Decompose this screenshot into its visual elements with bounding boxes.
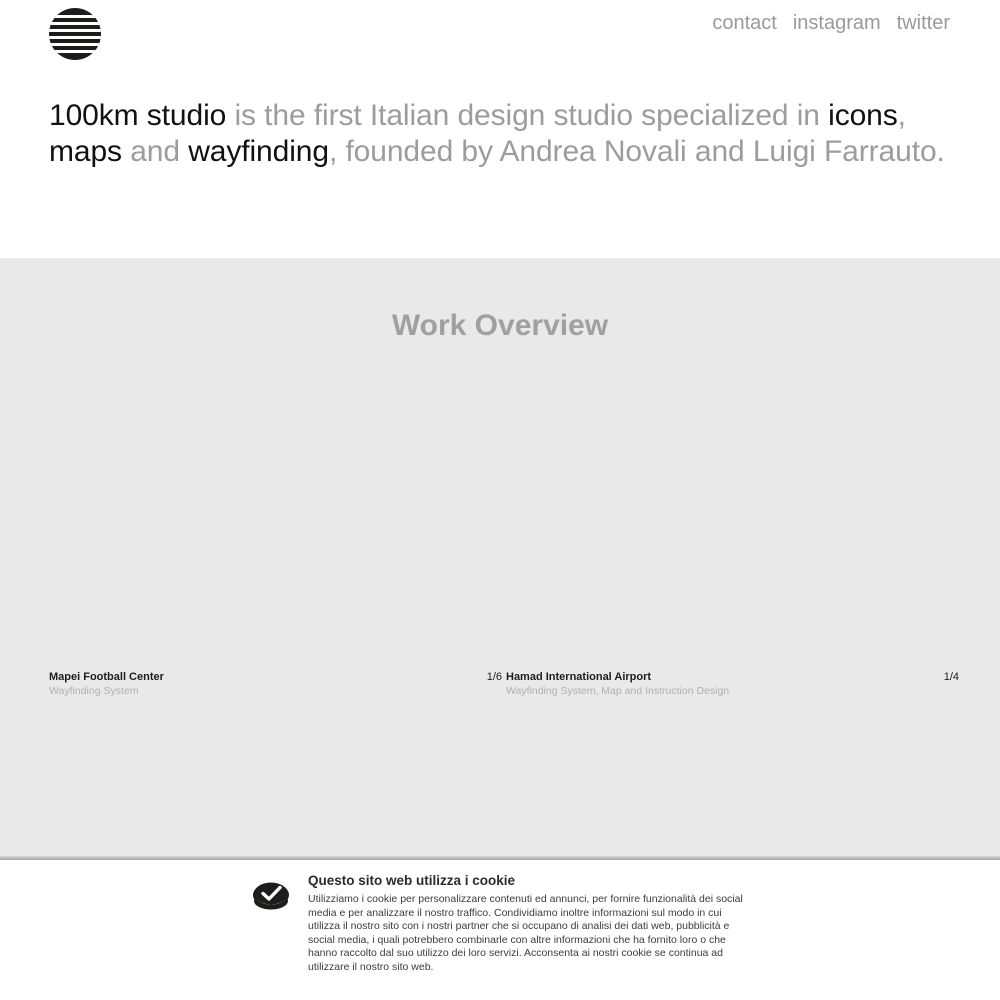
intro-paragraph: 100km studio is the first Italian design…	[49, 98, 959, 170]
work-overview-section: Work Overview Mapei Football Center 1/6 …	[0, 258, 1000, 858]
nav-link-twitter[interactable]: twitter	[897, 10, 950, 36]
intro-strong-icons: icons	[828, 99, 898, 132]
main-nav: contact instagram twitter	[712, 10, 950, 36]
logo-stripe	[49, 43, 101, 46]
project-title: Hamad International Airport	[506, 670, 651, 684]
project-counter: 1/6	[487, 670, 502, 684]
cookie-consent-banner: Questo sito web utilizza i cookie Utiliz…	[0, 860, 1000, 1000]
project-header: Mapei Football Center 1/6	[49, 670, 502, 684]
intro-text-1: is the first Italian design studio speci…	[226, 99, 828, 132]
intro-text-3: and	[122, 135, 188, 168]
cookie-text-block: Questo sito web utilizza i cookie Utiliz…	[308, 872, 752, 974]
cookie-title: Questo sito web utilizza i cookie	[308, 872, 752, 890]
logo-stripe	[49, 15, 101, 18]
project-subtitle: Wayfinding System, Map and Instruction D…	[506, 685, 959, 698]
intro-strong-maps: maps	[49, 135, 122, 168]
project-subtitle: Wayfinding System	[49, 685, 502, 698]
nav-link-contact[interactable]: contact	[712, 10, 776, 36]
page-root: contact instagram twitter 100km studio i…	[0, 0, 1000, 1000]
project-counter: 1/4	[944, 670, 959, 684]
project-card-mapei[interactable]: Mapei Football Center 1/6 Wayfinding Sys…	[49, 670, 502, 698]
project-list: Mapei Football Center 1/6 Wayfinding Sys…	[0, 670, 1000, 698]
work-overview-title: Work Overview	[0, 308, 1000, 344]
cookie-content: Questo sito web utilizza i cookie Utiliz…	[252, 872, 752, 974]
intro-strong-studio: 100km studio	[49, 99, 226, 132]
cookie-description: Utilizziamo i cookie per personalizzare …	[308, 893, 752, 974]
logo-stripe	[49, 50, 101, 53]
intro-text-4: , founded by Andrea Novali and Luigi Far…	[329, 135, 945, 168]
project-card-hamad[interactable]: Hamad International Airport 1/4 Wayfindi…	[506, 670, 959, 698]
project-title: Mapei Football Center	[49, 670, 164, 684]
nav-link-instagram[interactable]: instagram	[793, 10, 881, 36]
site-header: contact instagram twitter	[0, 0, 1000, 72]
logo-icon[interactable]	[49, 8, 101, 60]
logo-stripe	[49, 29, 101, 32]
intro-text-2: ,	[898, 99, 906, 132]
intro-strong-wayfinding: wayfinding	[188, 135, 329, 168]
cookiebot-cookie-icon	[252, 872, 292, 974]
logo-stripe	[49, 22, 101, 25]
project-header: Hamad International Airport 1/4	[506, 670, 959, 684]
logo-stripe	[49, 36, 101, 39]
